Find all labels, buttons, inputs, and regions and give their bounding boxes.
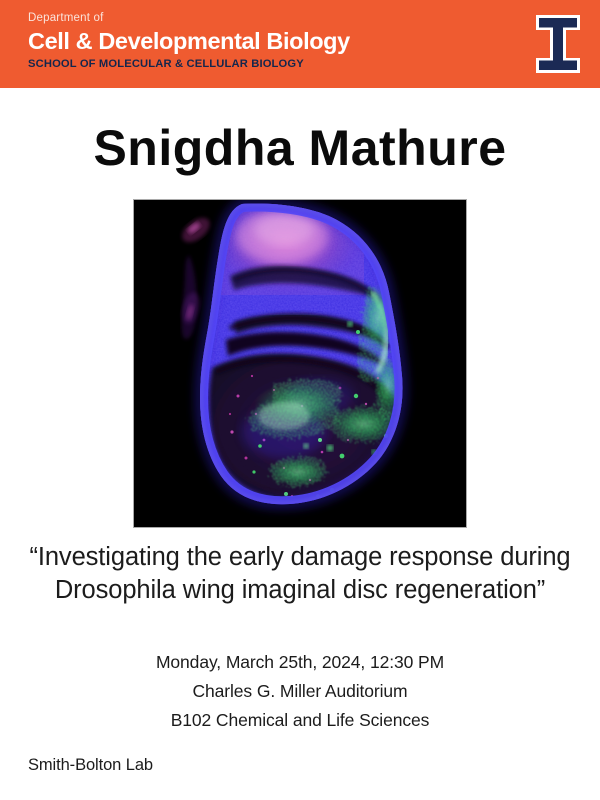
header-text-block: Department of Cell & Developmental Biolo… [28,11,350,71]
event-details-block: Monday, March 25th, 2024, 12:30 PM Charl… [0,648,600,735]
department-header-banner: Department of Cell & Developmental Biolo… [0,0,600,88]
event-venue: Charles G. Miller Auditorium [0,677,600,706]
lab-name-label: Smith-Bolton Lab [28,756,153,775]
event-datetime: Monday, March 25th, 2024, 12:30 PM [0,648,600,677]
speaker-name-heading: Snigdha Mathure [0,119,600,177]
event-room: B102 Chemical and Life Sciences [0,706,600,735]
department-name-title: Cell & Developmental Biology [28,27,350,55]
fluorescence-micrograph-image [133,199,467,528]
department-prefix-label: Department of [28,11,350,26]
illinois-block-i-logo [534,13,582,75]
talk-title: “Investigating the early damage response… [22,541,578,607]
school-name-label: SCHOOL OF MOLECULAR & CELLULAR BIOLOGY [28,57,350,71]
